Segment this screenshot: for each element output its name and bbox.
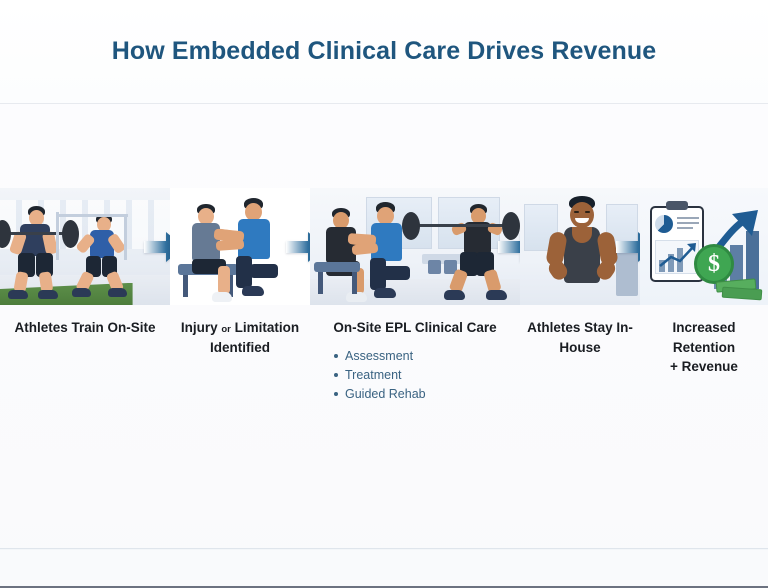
caption-step-3-title: On-Site EPL Clinical Care	[310, 318, 520, 338]
caption-step-3-bullets: Assessment Treatment Guided Rehab	[334, 347, 520, 405]
caption-step-2-lead: Injury	[181, 320, 218, 335]
caption-step-5-title: Increased Retention + Revenue	[640, 318, 768, 377]
caption-step-5-line2: + Revenue	[670, 359, 738, 374]
caption-step-1: Athletes Train On-Site	[0, 318, 170, 338]
bullet-label: Guided Rehab	[345, 385, 426, 404]
caption-step-2-line2: Identified	[210, 340, 270, 355]
illustration-row: $	[0, 188, 768, 305]
page-title: How Embedded Clinical Care Drives Revenu…	[112, 37, 657, 66]
caption-step-4: Athletes Stay In- House	[520, 318, 640, 357]
bullet-dot-icon	[334, 373, 338, 377]
caption-step-4-line1: Athletes Stay In-	[527, 320, 633, 335]
flow-arrow-step3-to-step4	[498, 230, 520, 264]
bottom-divider	[0, 548, 768, 549]
caption-step-4-line2: House	[559, 340, 600, 355]
flow-arrow-step4-to-step5	[616, 230, 640, 264]
caption-step-2-tail: Limitation	[235, 320, 300, 335]
caption-step-2: Injury or Limitation Identified	[170, 318, 310, 357]
flow-arrow-step1-to-step2	[144, 230, 170, 264]
dollar-icon: $	[694, 244, 734, 284]
caption-step-2-title: Injury or Limitation Identified	[170, 318, 310, 357]
bullet-dot-icon	[334, 392, 338, 396]
caption-step-4-title: Athletes Stay In- House	[520, 318, 640, 357]
illustration-athletes-train-on-site	[0, 188, 170, 305]
bullet-label: Treatment	[345, 366, 402, 385]
flow-arrow-step2-to-step3	[286, 230, 310, 264]
caption-step-5-line1: Increased Retention	[672, 320, 735, 355]
bullet-label: Assessment	[345, 347, 413, 366]
slide-canvas: How Embedded Clinical Care Drives Revenu…	[0, 0, 768, 588]
bullet-item: Treatment	[334, 366, 520, 385]
process-flow: $ Athletes Train On-Site Injury or Limit…	[0, 104, 768, 444]
illustration-increased-retention-revenue: $	[640, 188, 768, 305]
caption-step-2-connector: or	[221, 324, 231, 335]
bullet-item: Guided Rehab	[334, 385, 520, 404]
bullet-dot-icon	[334, 354, 338, 358]
bullet-item: Assessment	[334, 347, 520, 366]
illustration-injury-identified	[170, 188, 310, 305]
caption-step-5: Increased Retention + Revenue	[640, 318, 768, 377]
caption-row: Athletes Train On-Site Injury or Limitat…	[0, 318, 768, 438]
illustration-athletes-stay-in-house	[520, 188, 640, 305]
illustration-on-site-clinical-care	[310, 188, 520, 305]
title-band: How Embedded Clinical Care Drives Revenu…	[0, 0, 768, 104]
caption-step-3: On-Site EPL Clinical Care Assessment Tre…	[310, 318, 520, 405]
caption-step-1-title: Athletes Train On-Site	[0, 318, 170, 338]
